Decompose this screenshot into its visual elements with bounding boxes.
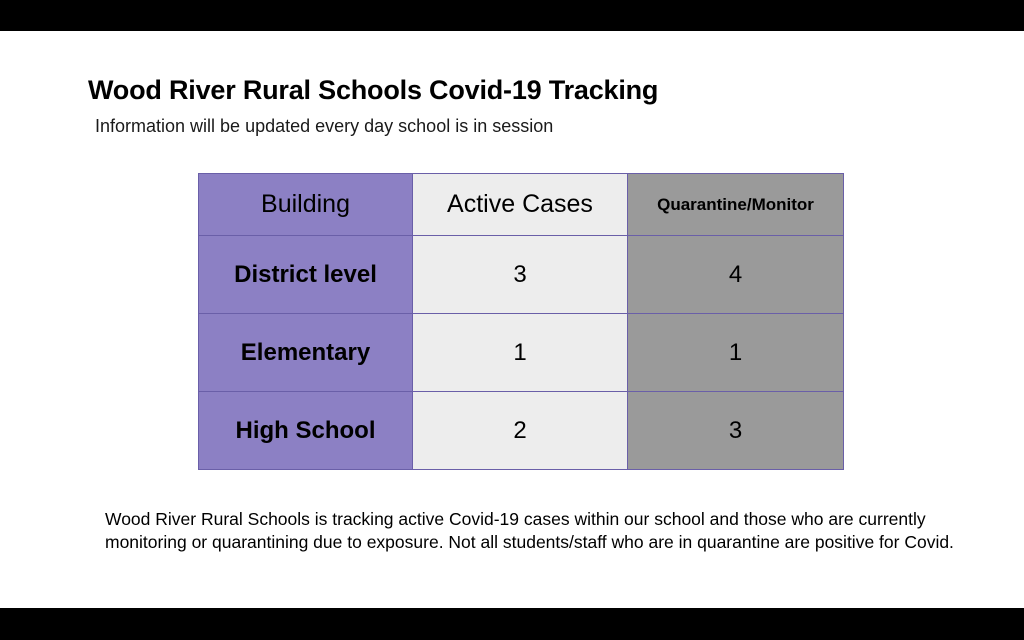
letterbox-bottom-bar <box>0 608 1024 640</box>
cell-active-cases-elementary: 1 <box>413 314 628 392</box>
active-cases-value: 3 <box>513 261 526 288</box>
table-header-quarantine-monitor-label: Quarantine/Monitor <box>657 195 814 214</box>
table-header-row: Building Active Cases Quarantine/Monitor <box>199 174 844 236</box>
active-cases-value: 1 <box>513 339 526 366</box>
table-header-active-cases-label: Active Cases <box>447 190 593 218</box>
table-header-quarantine-monitor: Quarantine/Monitor <box>628 174 844 236</box>
slide-frame: Wood River Rural Schools Covid-19 Tracki… <box>0 0 1024 640</box>
page-subtitle: Information will be updated every day sc… <box>95 116 553 137</box>
table-header-active-cases: Active Cases <box>413 174 628 236</box>
page-title: Wood River Rural Schools Covid-19 Tracki… <box>88 75 658 106</box>
covid-tracking-table: Building Active Cases Quarantine/Monitor… <box>198 173 844 470</box>
quarantine-monitor-value: 1 <box>729 339 742 366</box>
active-cases-value: 2 <box>513 417 526 444</box>
cell-active-cases-high-school: 2 <box>413 392 628 470</box>
cell-quarantine-district-level: 4 <box>628 236 844 314</box>
table-row: High School 2 3 <box>199 392 844 470</box>
quarantine-monitor-value: 4 <box>729 261 742 288</box>
table-header-building-label: Building <box>261 190 350 218</box>
cell-quarantine-high-school: 3 <box>628 392 844 470</box>
letterbox-top-bar <box>0 0 1024 31</box>
cell-building-district-level: District level <box>199 236 413 314</box>
quarantine-monitor-value: 3 <box>729 417 742 444</box>
building-label: District level <box>234 261 377 288</box>
building-label: High School <box>236 417 376 444</box>
table-header-building: Building <box>199 174 413 236</box>
slide-canvas: Wood River Rural Schools Covid-19 Tracki… <box>0 31 1024 608</box>
table-row: District level 3 4 <box>199 236 844 314</box>
cell-building-elementary: Elementary <box>199 314 413 392</box>
footer-description: Wood River Rural Schools is tracking act… <box>105 508 977 554</box>
building-label: Elementary <box>241 339 370 366</box>
cell-building-high-school: High School <box>199 392 413 470</box>
table-row: Elementary 1 1 <box>199 314 844 392</box>
cell-quarantine-elementary: 1 <box>628 314 844 392</box>
cell-active-cases-district-level: 3 <box>413 236 628 314</box>
